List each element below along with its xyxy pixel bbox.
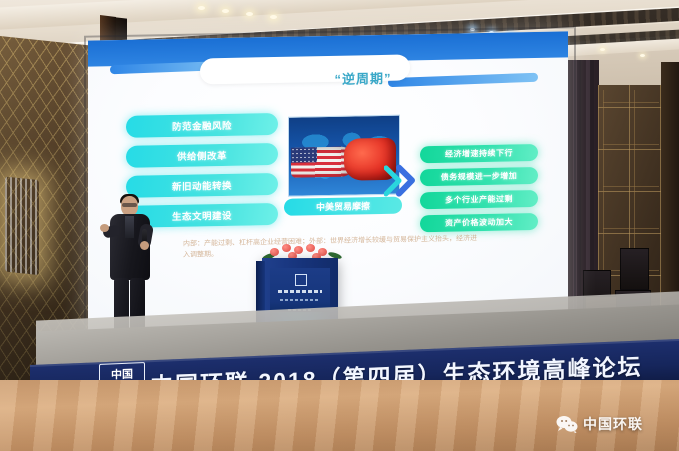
slide-title: “逆周期” xyxy=(278,67,448,89)
wechat-icon xyxy=(556,415,578,433)
slide-pill-left: 防范金融风险 xyxy=(126,113,278,138)
downlight xyxy=(600,48,605,51)
downlight xyxy=(470,28,475,31)
slide-pill-left: 供给侧改革 xyxy=(126,143,278,168)
conference-photo: “逆周期” 防范金融风险 供给侧改革 新旧动能转换 生态文明建设 中美贸易摩擦 … xyxy=(0,0,679,451)
podium-text-line xyxy=(278,290,322,293)
presenter-right-hand xyxy=(140,241,149,250)
wall-sconce-light xyxy=(5,177,39,276)
slide-pill-right: 资产价格波动加大 xyxy=(420,213,538,232)
podium-text-line xyxy=(280,299,320,301)
us-flag-canton xyxy=(291,147,317,162)
presenter-shirt xyxy=(125,216,134,238)
podium-emblem xyxy=(295,274,307,286)
watermark-text: 中国环联 xyxy=(583,414,643,434)
presenter-glasses xyxy=(122,203,137,207)
downlight xyxy=(640,54,645,57)
trade-war-caption: 中美贸易摩擦 xyxy=(284,197,402,216)
slide-pill-right: 经济增速持续下行 xyxy=(420,144,538,163)
slide-pill-left: 新旧动能转换 xyxy=(126,173,278,198)
downlight xyxy=(270,15,277,19)
flower xyxy=(270,248,279,256)
loudspeaker xyxy=(620,248,649,290)
watermark: 中国环联 xyxy=(556,414,643,434)
flower xyxy=(306,244,315,252)
flower xyxy=(282,244,291,252)
double-chevron-right-icon xyxy=(384,162,418,199)
downlight xyxy=(246,12,253,16)
downlight xyxy=(198,6,205,10)
slide-pill-right: 多个行业产能过剩 xyxy=(420,190,538,209)
slide-pill-right: 债务规模进一步增加 xyxy=(420,167,538,186)
presenter-left-hand xyxy=(100,224,109,232)
downlight xyxy=(222,9,229,13)
